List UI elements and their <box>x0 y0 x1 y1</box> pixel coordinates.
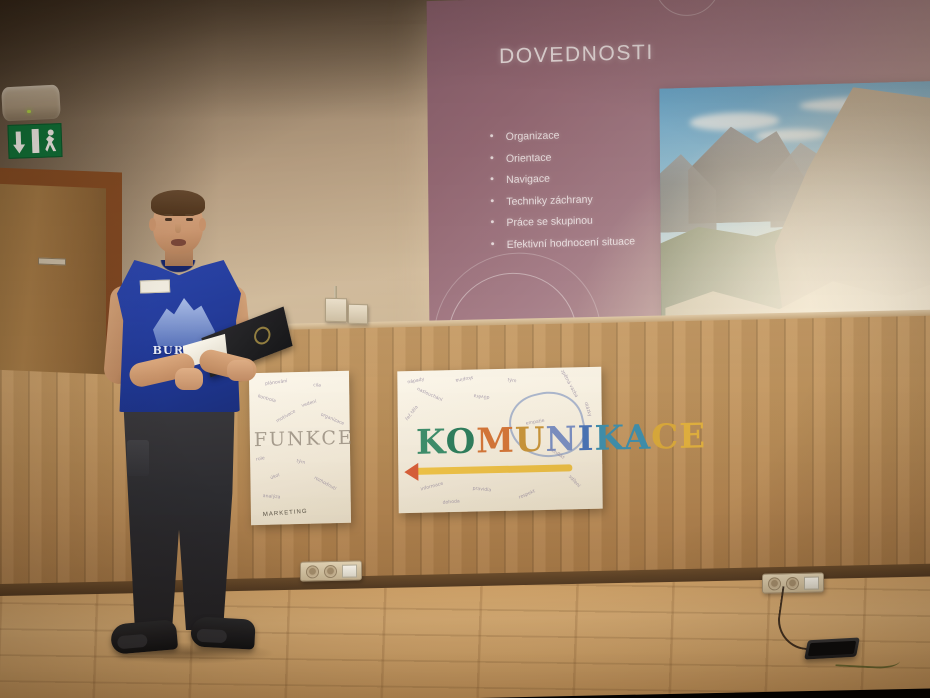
name-badge <box>140 279 170 293</box>
clipboard-logo-icon <box>252 324 272 347</box>
poster-right: KOMUNIKACE nápady skupina tým zpětná vaz… <box>397 367 602 514</box>
headline-letter: C <box>651 417 679 458</box>
poster-arrow-shaft <box>412 464 572 475</box>
headline-letter: I <box>577 419 594 459</box>
shoe-toe-cap <box>117 634 148 650</box>
headline-letter: E <box>679 416 706 457</box>
emergency-light-fixture <box>1 85 61 122</box>
slide-decorative-arc-top-icon <box>654 0 721 17</box>
headline-letter: O <box>445 422 476 463</box>
socket-switch-icon[interactable] <box>342 564 357 577</box>
shoe-right <box>190 616 255 649</box>
ear-left <box>149 218 156 231</box>
wall-socket-left[interactable] <box>300 560 362 581</box>
light-switch-icon[interactable] <box>325 298 347 323</box>
poster-scribble: řeč těla <box>405 405 419 422</box>
nose <box>175 223 181 233</box>
emergency-light-led-icon <box>27 110 31 113</box>
poster-scribble: dohoda <box>442 499 460 506</box>
headline-letter: K <box>416 422 446 463</box>
socket-outlet-icon <box>324 564 337 577</box>
hair <box>151 190 205 216</box>
poster-scribble: otázky <box>583 402 592 418</box>
eyebrow-left <box>164 214 173 216</box>
mouth <box>171 239 186 246</box>
running-person-icon <box>41 124 60 157</box>
eyebrow-right <box>185 214 194 216</box>
charger-cable-tail <box>835 644 900 669</box>
eye-left <box>165 218 172 221</box>
eye-right <box>186 218 193 221</box>
socket-outlet-icon <box>768 577 781 590</box>
shoe-left <box>110 619 178 655</box>
slide-title: DOVEDNOSTI <box>499 41 654 69</box>
shoe-toe-cap <box>197 629 228 644</box>
light-switch-secondary-icon[interactable] <box>348 304 368 325</box>
hand-right <box>227 360 253 381</box>
door-nameplate <box>38 258 66 266</box>
poster-scribble: důvěra <box>473 392 490 399</box>
headline-letter: K <box>594 418 624 459</box>
hand-left <box>175 368 203 390</box>
poster-scribble: cíle <box>313 383 321 389</box>
exit-door-icon <box>32 129 40 153</box>
poster-arrow-head-icon <box>404 463 418 481</box>
socket-switch-icon[interactable] <box>804 576 819 589</box>
ear-right <box>199 218 206 231</box>
socket-outlet-icon <box>306 565 319 578</box>
poster-scribble: sdílení <box>567 475 581 489</box>
poster-scribble: informace <box>420 482 444 493</box>
presenter: BURTON <box>95 190 305 698</box>
poster-scribble: naslouchání <box>416 387 443 403</box>
emergency-exit-sign <box>7 123 62 159</box>
poster-scribble: pravidla <box>472 487 491 494</box>
projected-slide: DOVEDNOSTI Organizace Orientace Navigace… <box>427 0 930 349</box>
trouser-pocket <box>127 440 149 476</box>
poster-scribble: tým <box>507 378 517 384</box>
down-arrow-icon <box>8 125 29 158</box>
trousers <box>121 402 237 630</box>
door[interactable] <box>0 184 106 375</box>
poster-scribble: organizace <box>320 413 345 427</box>
room-photo-scene: DOVEDNOSTI Organizace Orientace Navigace… <box>0 0 930 698</box>
poster-scribble: nápady <box>407 377 425 385</box>
headline-letter: M <box>476 421 515 462</box>
headline-letter: U <box>515 420 546 461</box>
poster-scribble: respekt <box>518 489 536 500</box>
headline-letter: A <box>624 418 652 459</box>
poster-scribble: rozhodnutí <box>313 476 337 492</box>
poster-scribble: skupina <box>455 374 473 382</box>
